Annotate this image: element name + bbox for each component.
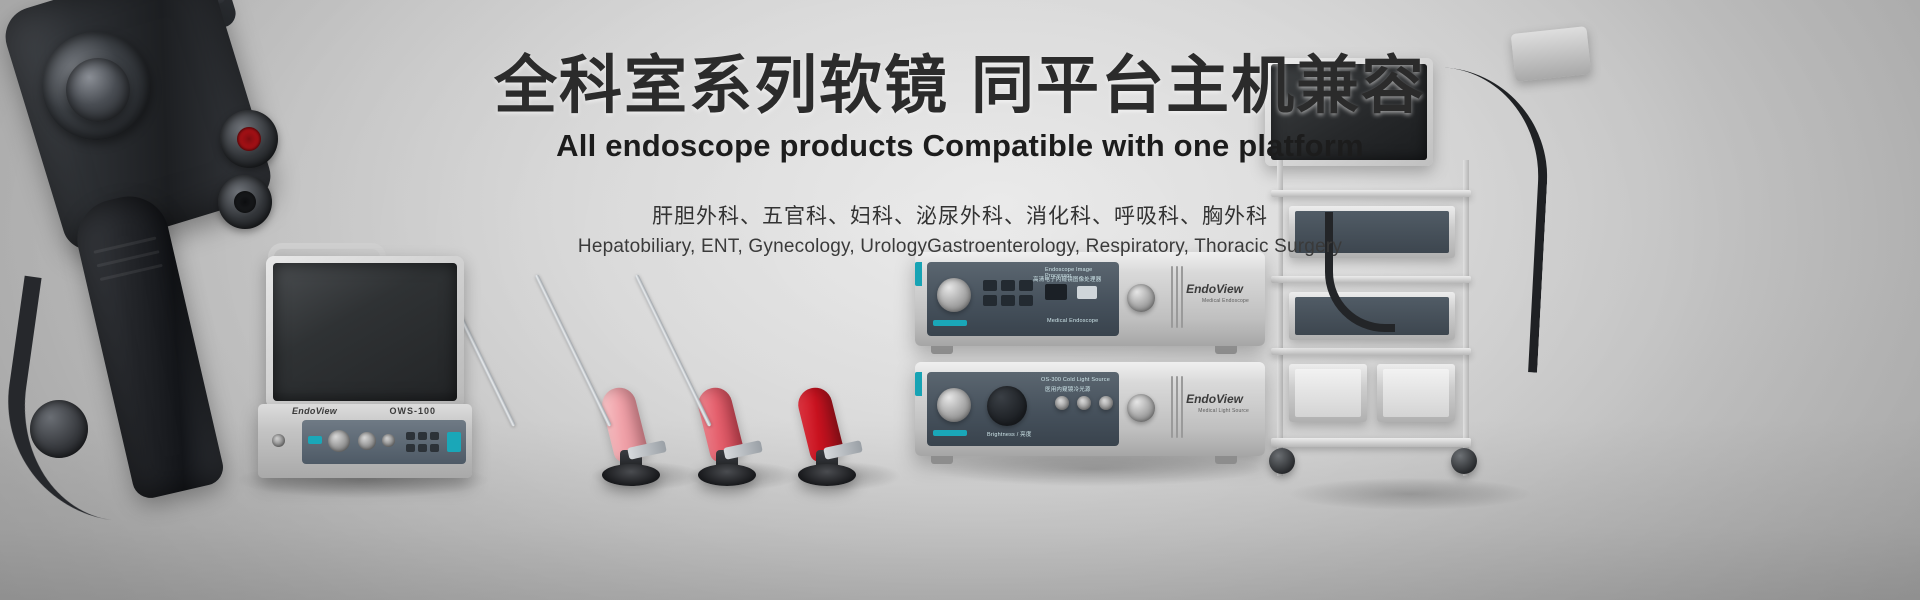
camera-processor-unit: Endoscope Image Processor 高清电子内窥镜图像处理器 M… <box>915 252 1265 346</box>
processor-foot-right <box>1215 346 1237 354</box>
workstation-button-2[interactable] <box>418 432 427 440</box>
processor-brand-sub: Medical Endoscope <box>1202 298 1249 304</box>
lightsource-knob-caption: Brightness / 亮度 <box>987 430 1032 438</box>
lightsource-brand-sub: Medical Light Source <box>1198 408 1249 414</box>
cart-device-4-panel <box>1383 369 1449 417</box>
cart-device-4 <box>1377 364 1455 422</box>
processor-key-4[interactable] <box>983 295 997 306</box>
lightsource-output-port[interactable] <box>937 388 971 422</box>
processor-status-indicator <box>933 320 967 326</box>
cold-light-source-unit: OS-300 Cold Light Source 医用内窥镜冷光源 Bright… <box>915 362 1265 456</box>
processor-stack: Endoscope Image Processor 高清电子内窥镜图像处理器 M… <box>915 252 1275 464</box>
workstation-model-label: OWS-100 <box>389 406 436 416</box>
workstation-button-6[interactable] <box>430 444 439 452</box>
workstation-brand-label: EndoView <box>292 406 337 416</box>
workstation-power-button[interactable] <box>447 432 461 452</box>
workstation-side-port <box>272 434 285 447</box>
workstation-control-panel <box>302 420 466 464</box>
processor-teal-stripe <box>915 262 922 286</box>
lightsource-brightness-knob[interactable] <box>987 386 1027 426</box>
cart-bottom-platform <box>1271 438 1471 447</box>
processor-foot-left <box>931 346 953 354</box>
processor-display-window <box>1045 284 1067 300</box>
processor-key-5[interactable] <box>1001 295 1015 306</box>
departments-chinese: 肝胆外科、五官科、妇科、泌尿外科、消化科、呼吸科、胸外科 <box>0 200 1920 230</box>
lightsource-foot-left <box>931 456 953 464</box>
lightsource-brand-label: EndoView <box>1186 392 1243 406</box>
headline-part-2: 同平台主机兼容 <box>971 51 1426 121</box>
endoscope-workstation: EndoView OWS-100 <box>228 238 490 478</box>
cart-device-3-panel <box>1295 369 1361 417</box>
workstation-knob-1[interactable] <box>328 430 350 452</box>
processor-front-panel: Endoscope Image Processor 高清电子内窥镜图像处理器 M… <box>927 262 1119 336</box>
lightsource-button-1[interactable] <box>1055 396 1069 410</box>
departments-english: Hepatobiliary, ENT, Gynecology, UrologyG… <box>0 236 1920 258</box>
product-banner: 全科室系列软镜同平台主机兼容 All endoscope products Co… <box>0 0 1920 600</box>
processor-key-3[interactable] <box>1019 280 1033 291</box>
subheadline-english: All endoscope products Compatible with o… <box>0 128 1920 164</box>
workstation-display <box>273 263 457 401</box>
workstation-knob-3[interactable] <box>382 434 395 447</box>
processor-main-dial[interactable] <box>937 278 971 312</box>
lightsource-panel-label-en: OS-300 Cold Light Source <box>1041 377 1110 383</box>
endoscope-connector-tip <box>30 400 88 458</box>
processor-right-knob[interactable] <box>1127 284 1155 312</box>
lightsource-teal-stripe <box>915 372 922 396</box>
cart-wheel-right <box>1451 448 1477 474</box>
workstation-button-1[interactable] <box>406 432 415 440</box>
scope-base-red <box>798 464 856 486</box>
lightsource-panel-label-cn: 医用内窥镜冷光源 <box>1045 385 1091 393</box>
processor-panel-label-cn: 高清电子内窥镜图像处理器 <box>1033 275 1101 283</box>
lightsource-front-panel: OS-300 Cold Light Source 医用内窥镜冷光源 Bright… <box>927 372 1119 446</box>
lightsource-foot-right <box>1215 456 1237 464</box>
processor-usb-port[interactable] <box>1077 286 1097 299</box>
cart-shelf-3 <box>1271 348 1471 355</box>
workstation-button-4[interactable] <box>406 444 415 452</box>
rigid-scope-red <box>708 258 888 488</box>
processor-key-6[interactable] <box>1019 295 1033 306</box>
headline: 全科室系列软镜同平台主机兼容 <box>0 52 1920 120</box>
lightsource-button-3[interactable] <box>1099 396 1113 410</box>
processor-key-2[interactable] <box>1001 280 1015 291</box>
banner-text-block: 全科室系列软镜同平台主机兼容 All endoscope products Co… <box>0 52 1920 258</box>
workstation-knob-2[interactable] <box>358 432 376 450</box>
cart-device-3 <box>1289 364 1367 422</box>
headline-part-1: 全科室系列软镜 <box>494 51 949 121</box>
processor-key-1[interactable] <box>983 280 997 291</box>
lightsource-status-indicator <box>933 430 967 436</box>
workstation-teal-indicator <box>308 436 322 444</box>
workstation-screen-bezel <box>266 256 464 408</box>
workstation-base-unit: EndoView OWS-100 <box>258 404 472 478</box>
processor-panel-footnote: Medical Endoscope <box>1047 318 1098 324</box>
lightsource-right-knob[interactable] <box>1127 394 1155 422</box>
lightsource-button-2[interactable] <box>1077 396 1091 410</box>
workstation-button-5[interactable] <box>418 444 427 452</box>
processor-brand-label: EndoView <box>1186 282 1243 296</box>
workstation-button-3[interactable] <box>430 432 439 440</box>
